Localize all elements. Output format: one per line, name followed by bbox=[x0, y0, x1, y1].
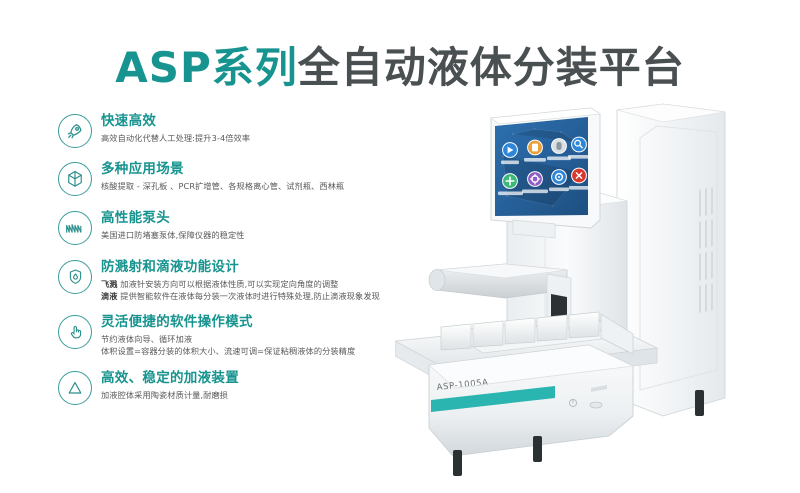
feature-item: 防溅射和滴液功能设计 飞溅 加液针安装方向可以根据液体性质,可以实现定向角度的调… bbox=[58, 258, 438, 302]
feature-subtitle: 美国进口防堵塞泵体,保障仪器的稳定性 bbox=[101, 229, 438, 241]
feature-title: 灵活便捷的软件操作模式 bbox=[101, 314, 438, 331]
feature-title: 快速高效 bbox=[101, 113, 438, 130]
triangle-icon bbox=[58, 371, 92, 405]
title-brand: ASP系列 bbox=[115, 43, 298, 92]
feature-item: 灵活便捷的软件操作模式 节约液体向导、循环加液 体积设置=容器分装的体积大小、流… bbox=[58, 313, 438, 357]
feature-subtitle-splash: 飞溅 加液针安装方向可以根据液体性质,可以实现定向角度的调整 bbox=[101, 278, 438, 290]
screen-app-start bbox=[501, 143, 519, 165]
feature-subtitle: 加液腔体采用陶瓷材质计量,耐磨损 bbox=[101, 389, 438, 401]
splash-text: 加液针安装方向可以根据液体性质,可以实现定向角度的调整 bbox=[118, 279, 339, 289]
feature-item: 高性能泵头 美国进口防堵塞泵体,保障仪器的稳定性 bbox=[58, 209, 438, 245]
title-rest: 全自动液体分装平台 bbox=[298, 43, 685, 92]
feature-item: 高效、稳定的加液装置 加液腔体采用陶瓷材质计量,耐磨损 bbox=[58, 369, 438, 405]
rocket-icon bbox=[58, 114, 92, 148]
feature-item: 快速高效 高效自动化代替人工处理:提升3-4倍效率 bbox=[58, 112, 438, 148]
shield-droplet-icon bbox=[58, 260, 92, 294]
feature-title: 高性能泵头 bbox=[101, 210, 438, 227]
drip-label: 滴液 bbox=[101, 291, 118, 301]
product-banner: ASP系列全自动液体分装平台 快速高效 高效自动化代替人工处理:提升3-4倍效率 bbox=[0, 0, 800, 493]
front-port bbox=[590, 402, 602, 408]
touchscreen bbox=[495, 117, 591, 216]
waveform-icon bbox=[58, 211, 92, 245]
feature-item: 多种应用场景 核酸提取 - 深孔板 、PCR扩增管、各规格离心管、试剂瓶、西林瓶 bbox=[58, 160, 438, 196]
machine-screen-head bbox=[491, 108, 600, 238]
feature-title: 防溅射和滴液功能设计 bbox=[101, 259, 438, 276]
product-photo: ASP-1005A bbox=[395, 98, 795, 488]
cube-icon bbox=[58, 162, 92, 196]
feature-subtitle-2: 体积设置=容器分装的体积大小、流速可调=保证粘稠液体的分装精度 bbox=[101, 345, 438, 357]
drip-text: 提供智能软件在液体每分装一次液体时进行特殊处理,防止滴液现象发现 bbox=[118, 291, 380, 301]
feature-title: 高效、稳定的加液装置 bbox=[101, 370, 438, 387]
feature-subtitle: 节约液体向导、循环加液 bbox=[101, 333, 438, 345]
feature-subtitle: 核酸提取 - 深孔板 、PCR扩增管、各规格离心管、试剂瓶、西林瓶 bbox=[101, 180, 438, 192]
feature-subtitle: 高效自动化代替人工处理:提升3-4倍效率 bbox=[101, 132, 438, 144]
feature-list: 快速高效 高效自动化代替人工处理:提升3-4倍效率 多种应用场景 核酸提取 - … bbox=[58, 112, 438, 412]
machine-front-housing: ASP-1005A bbox=[429, 345, 633, 456]
splash-label: 飞溅 bbox=[101, 279, 118, 289]
feature-title: 多种应用场景 bbox=[101, 161, 438, 178]
feature-subtitle-drip: 滴液 提供智能软件在液体每分装一次液体时进行特殊处理,防止滴液现象发现 bbox=[101, 290, 438, 302]
hand-touch-icon bbox=[58, 315, 92, 349]
page-title: ASP系列全自动液体分装平台 bbox=[0, 34, 800, 95]
